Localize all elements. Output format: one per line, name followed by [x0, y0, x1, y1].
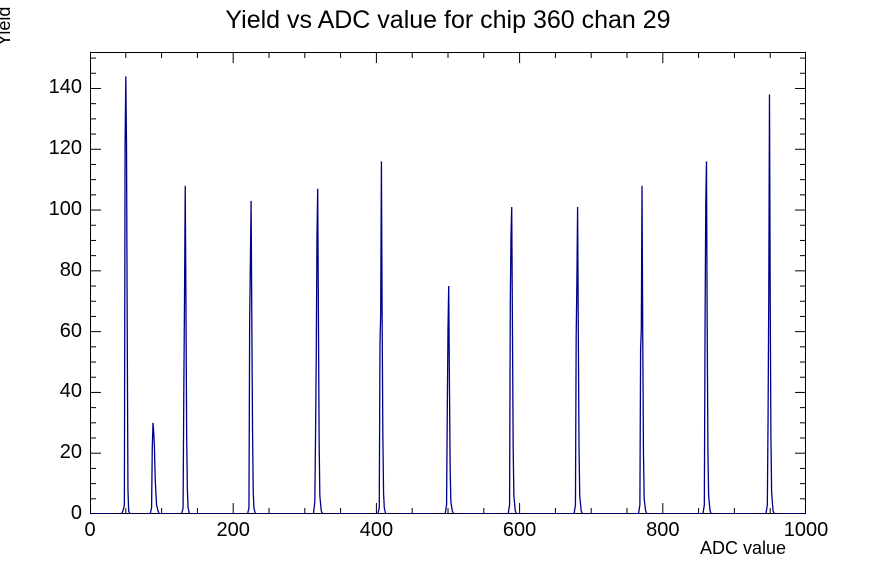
y-tick-label: 80	[28, 259, 82, 282]
x-tick-label: 600	[480, 519, 560, 542]
x-tick-label: 200	[193, 519, 273, 542]
y-tick-label: 40	[28, 380, 82, 403]
page-title: Yield vs ADC value for chip 360 chan 29	[0, 6, 896, 35]
x-tick-label: 1000	[766, 519, 846, 542]
axis-ticks	[90, 52, 806, 514]
y-axis-title: Yield	[0, 7, 15, 46]
yield-series-line	[90, 76, 806, 514]
y-tick-label: 100	[28, 198, 82, 221]
y-tick-label: 20	[28, 441, 82, 464]
y-tick-label: 60	[28, 320, 82, 343]
y-tick-label: 120	[28, 137, 82, 160]
x-tick-label: 800	[623, 519, 703, 542]
chart-canvas: Yield vs ADC value for chip 360 chan 29 …	[0, 0, 896, 572]
plot-area	[90, 52, 806, 514]
x-tick-label: 0	[50, 519, 130, 542]
y-tick-label: 140	[28, 76, 82, 99]
x-tick-label: 400	[336, 519, 416, 542]
